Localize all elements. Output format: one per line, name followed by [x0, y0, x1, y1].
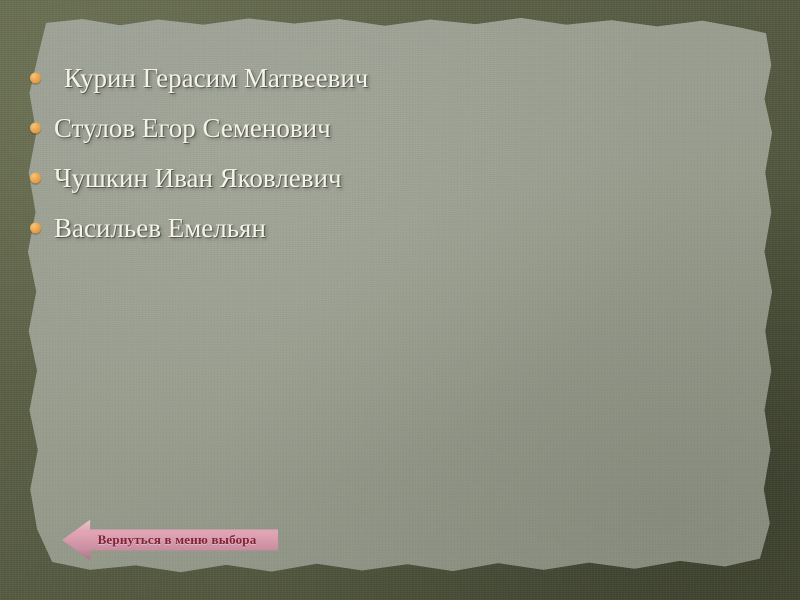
list-item-label: Курин Герасим Матвеевич: [32, 65, 368, 92]
list-item-label: Васильев Емельян: [32, 215, 266, 242]
list-item-label: Стулов Егор Семенович: [32, 115, 331, 142]
list-item: Васильев Емельян: [0, 203, 756, 253]
list-item: Чушкин Иван Яковлевич: [0, 153, 756, 203]
list-item: Курин Герасим Матвеевич: [0, 53, 756, 103]
slide-canvas: Курин Герасим Матвеевич Стулов Егор Семе…: [0, 0, 800, 600]
bullet-list: Курин Герасим Матвеевич Стулов Егор Семе…: [0, 0, 756, 253]
back-to-menu-button[interactable]: Вернуться в меню выбора: [62, 518, 278, 562]
list-item-label: Чушкин Иван Яковлевич: [32, 165, 342, 192]
list-item: Стулов Егор Семенович: [0, 103, 756, 153]
bullet-dot-icon: [30, 123, 41, 134]
bullet-dot-icon: [30, 173, 41, 184]
bullet-dot-icon: [30, 73, 41, 84]
bullet-dot-icon: [30, 223, 41, 234]
back-to-menu-label: Вернуться в меню выбора: [80, 518, 274, 562]
